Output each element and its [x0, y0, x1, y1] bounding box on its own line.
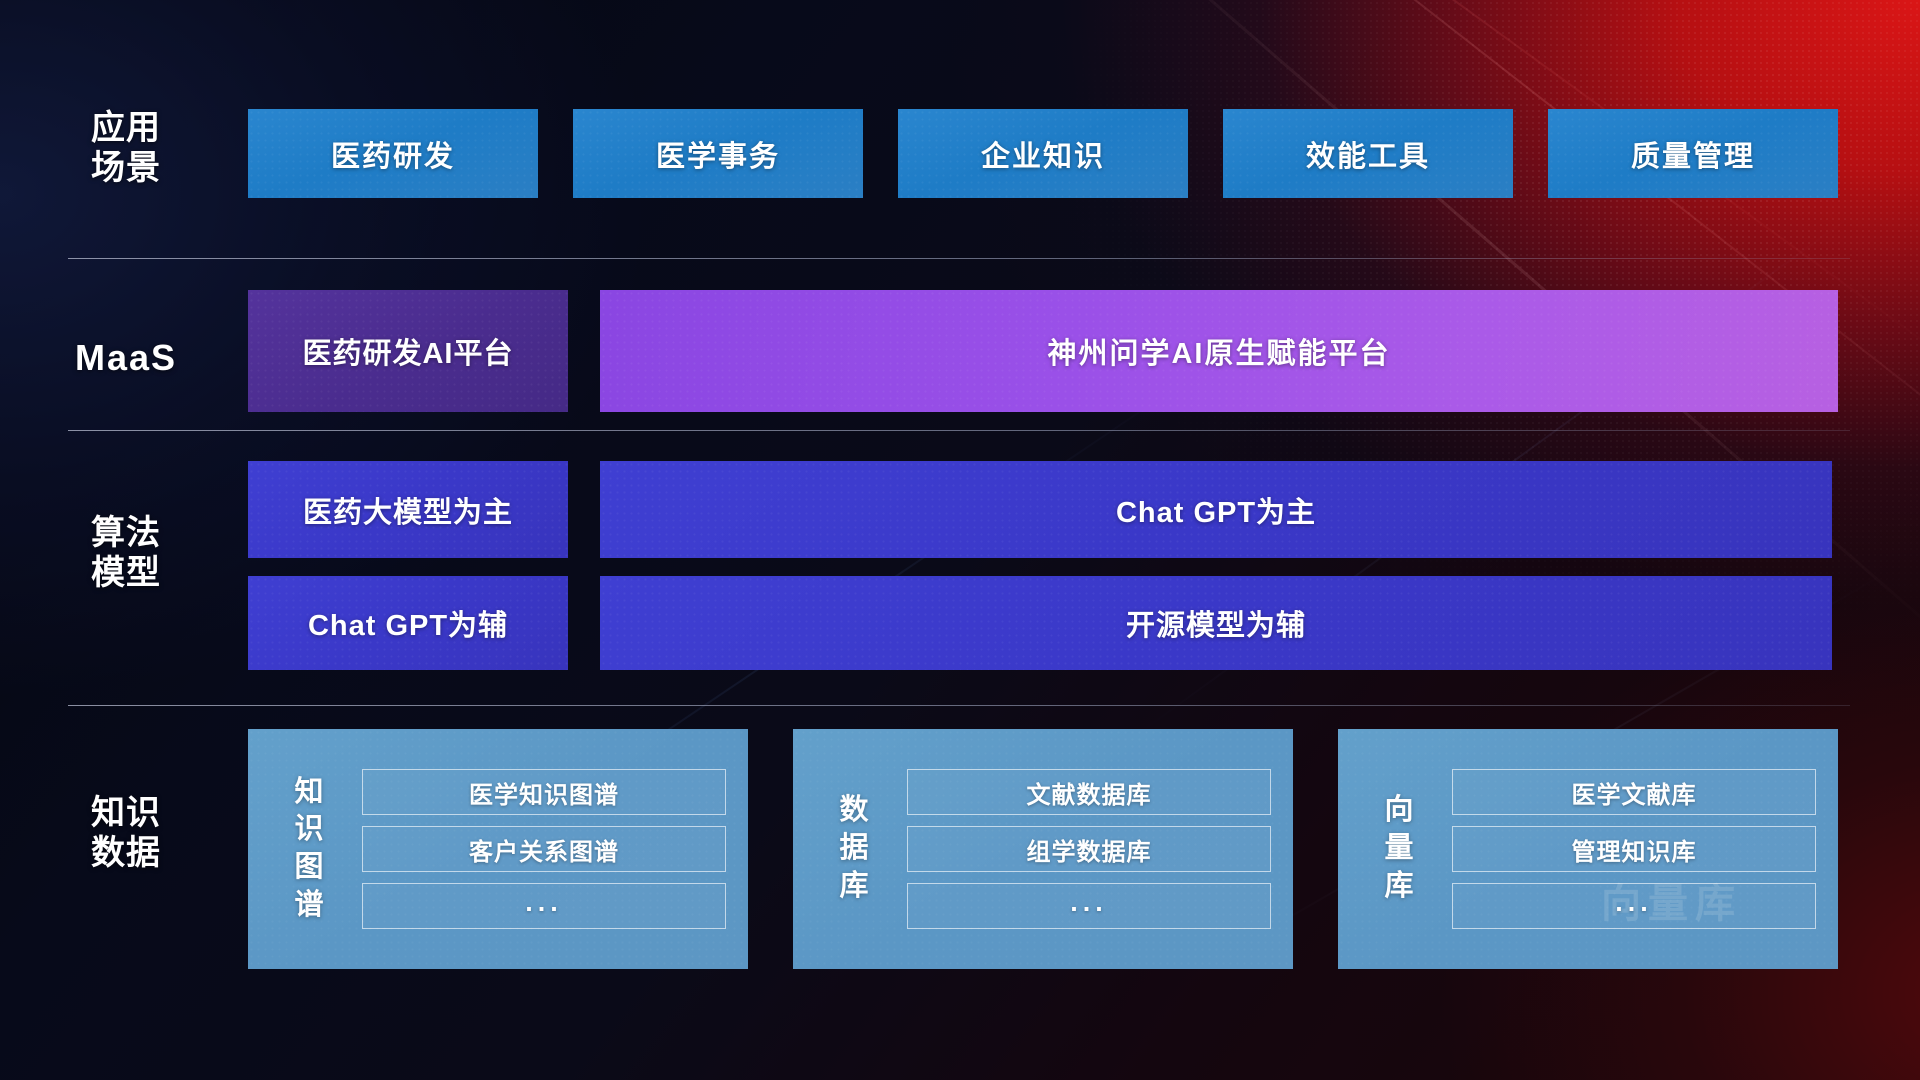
knowledge-panel-title: 向 量 库	[1362, 792, 1436, 905]
app-box-label: 医学事务	[656, 133, 780, 175]
algo-box-label: Chat GPT为辅	[308, 602, 508, 644]
knowledge-item[interactable]: 文献数据库	[907, 769, 1271, 815]
algo-box-label: 医药大模型为主	[303, 489, 513, 531]
app-box-pharma-rd[interactable]: 医药研发	[248, 109, 538, 198]
knowledge-panel-knowledge-graph[interactable]: 知 识 图 谱 医学知识图谱 客户关系图谱 ...	[248, 729, 748, 969]
algo-box-chatgpt-primary[interactable]: Chat GPT为主	[600, 461, 1832, 558]
app-box-efficiency-tools[interactable]: 效能工具	[1223, 109, 1513, 198]
algo-box-chatgpt-secondary[interactable]: Chat GPT为辅	[248, 576, 568, 670]
knowledge-item-more[interactable]: ...	[362, 883, 726, 929]
knowledge-item[interactable]: 医学知识图谱	[362, 769, 726, 815]
algo-box-pharma-large-model-primary[interactable]: 医药大模型为主	[248, 461, 568, 558]
app-box-quality-management[interactable]: 质量管理	[1548, 109, 1838, 198]
algo-box-label: 开源模型为辅	[1126, 602, 1306, 644]
app-box-label: 效能工具	[1306, 133, 1430, 175]
knowledge-panel-vector-database[interactable]: 向量库 向 量 库 医学文献库 管理知识库 ...	[1338, 729, 1838, 969]
knowledge-panel-items: 文献数据库 组学数据库 ...	[891, 753, 1293, 945]
maas-box-label: 神州问学AI原生赋能平台	[1047, 330, 1390, 372]
maas-box-shenzhou-wenxue-platform[interactable]: 神州问学AI原生赋能平台	[600, 290, 1838, 412]
app-box-label: 医药研发	[331, 133, 455, 175]
knowledge-item-more[interactable]: ...	[1452, 883, 1816, 929]
maas-box-pharma-ai-platform[interactable]: 医药研发AI平台	[248, 290, 568, 412]
row-label-maas: MaaS	[62, 337, 190, 379]
app-box-medical-affairs[interactable]: 医学事务	[573, 109, 863, 198]
knowledge-panel-items: 医学知识图谱 客户关系图谱 ...	[346, 753, 748, 945]
knowledge-panel-title: 知 识 图 谱	[272, 774, 346, 925]
app-box-label: 企业知识	[981, 133, 1105, 175]
knowledge-item[interactable]: 组学数据库	[907, 826, 1271, 872]
app-box-label: 质量管理	[1631, 133, 1755, 175]
knowledge-item[interactable]: 管理知识库	[1452, 826, 1816, 872]
app-box-enterprise-knowledge[interactable]: 企业知识	[898, 109, 1188, 198]
row-label-algorithm-model: 算法 模型	[62, 513, 190, 593]
architecture-diagram: 应用 场景 医药研发 医学事务 企业知识 效能工具 质量管理 MaaS 医药研发…	[0, 0, 1920, 1080]
algo-box-label: Chat GPT为主	[1116, 489, 1316, 531]
knowledge-panel-items: 医学文献库 管理知识库 ...	[1436, 753, 1838, 945]
row-divider-2	[68, 430, 1850, 431]
knowledge-item[interactable]: 医学文献库	[1452, 769, 1816, 815]
knowledge-item-more[interactable]: ...	[907, 883, 1271, 929]
maas-box-label: 医药研发AI平台	[302, 330, 513, 372]
knowledge-panel-title: 数 据 库	[817, 792, 891, 905]
knowledge-item[interactable]: 客户关系图谱	[362, 826, 726, 872]
row-divider-3	[68, 705, 1850, 706]
row-label-application-scenario: 应用 场景	[62, 108, 190, 188]
knowledge-panel-database[interactable]: 数 据 库 文献数据库 组学数据库 ...	[793, 729, 1293, 969]
row-label-knowledge-data: 知识 数据	[62, 793, 190, 873]
row-divider-1	[68, 258, 1850, 259]
algo-box-opensource-model-secondary[interactable]: 开源模型为辅	[600, 576, 1832, 670]
